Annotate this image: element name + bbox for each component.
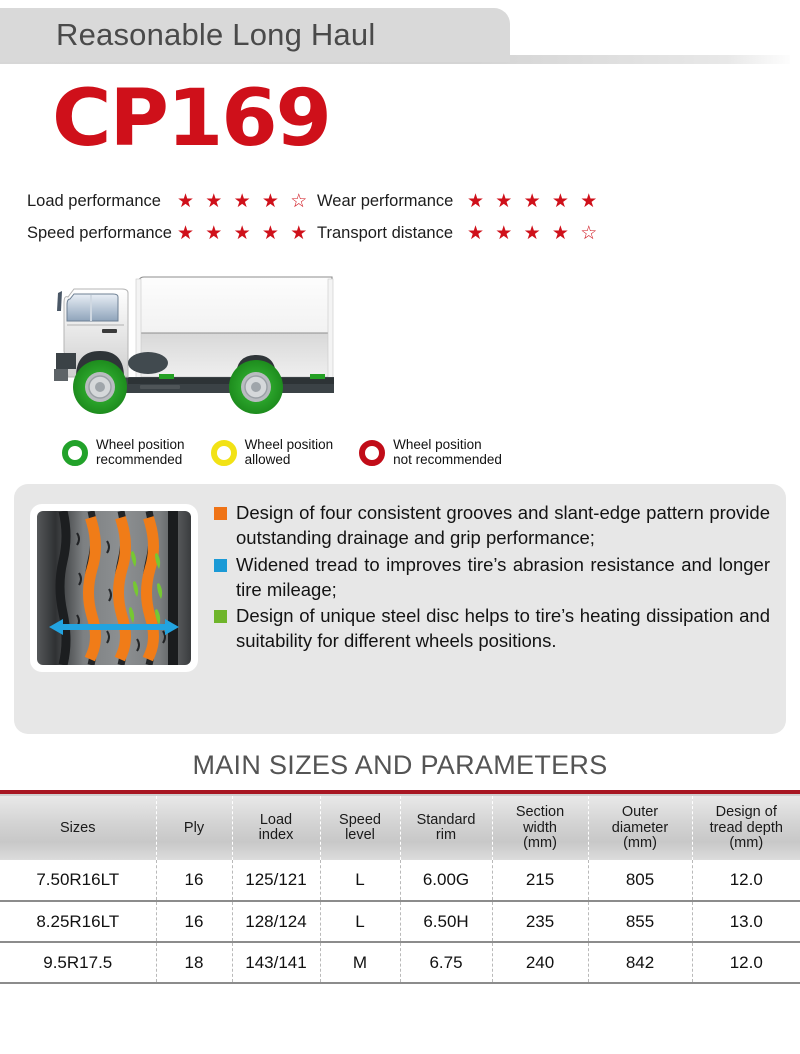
- header-banner: Reasonable Long Haul: [0, 0, 800, 72]
- feature-item-2: Widened tread to improves tire’s abrasio…: [214, 552, 770, 602]
- cell-load-index: 143/141: [232, 942, 320, 983]
- truck-illustration-zone: [0, 259, 800, 434]
- cell-standard-rim: 6.50H: [400, 901, 492, 942]
- specs-table: Sizes Ply Loadindex Speedlevel Standardr…: [0, 796, 800, 984]
- cell-size: 8.25R16LT: [0, 901, 156, 942]
- feature-list: Design of four consistent grooves and sl…: [214, 498, 770, 718]
- legend-label-not-recommended: Wheel position not recommended: [393, 438, 502, 467]
- legend-line-2: not recommended: [393, 453, 502, 468]
- column-header-load-index: Loadindex: [232, 796, 320, 860]
- cell-standard-rim: 6.00G: [400, 860, 492, 901]
- feature-text-3: Design of unique steel disc helps to tir…: [236, 603, 770, 653]
- cell-load-index: 128/124: [232, 901, 320, 942]
- bullet-square-green-icon: [214, 610, 227, 623]
- table-title: MAIN SIZES AND PARAMETERS: [0, 750, 800, 781]
- rating-stars-wear: ★ ★ ★ ★ ★: [467, 190, 607, 213]
- cell-outer-diameter: 842: [588, 942, 692, 983]
- tread-image-frame: [30, 504, 198, 672]
- feature-text-1: Design of four consistent grooves and sl…: [236, 500, 770, 550]
- cell-section-width: 235: [492, 901, 588, 942]
- legend-item-allowed: Wheel position allowed: [211, 438, 334, 467]
- rating-label-wear: Wear performance: [317, 192, 467, 211]
- rating-label-load: Load performance: [27, 192, 177, 211]
- rating-stars-speed: ★ ★ ★ ★ ★: [177, 222, 317, 245]
- legend-label-recommended: Wheel position recommended: [96, 438, 185, 467]
- column-header-tread-depth: Design oftread depth(mm): [692, 796, 800, 860]
- banner-plate: Reasonable Long Haul: [0, 8, 510, 62]
- cell-speed-level: L: [320, 860, 400, 901]
- legend-item-recommended: Wheel position recommended: [62, 438, 185, 467]
- column-header-ply: Ply: [156, 796, 232, 860]
- cell-ply: 16: [156, 860, 232, 901]
- legend-line-2: allowed: [245, 453, 334, 468]
- cell-tread-depth: 12.0: [692, 942, 800, 983]
- wheel-rear: [229, 360, 283, 414]
- rating-stars-transport: ★ ★ ★ ★ ☆: [467, 222, 607, 245]
- legend-line-1: Wheel position: [96, 438, 185, 453]
- rating-label-transport: Transport distance: [317, 224, 467, 243]
- table-row: 9.5R17.5 18 143/141 M 6.75 240 842 12.0: [0, 942, 800, 983]
- feature-panel: Design of four consistent grooves and sl…: [14, 484, 786, 734]
- performance-ratings: Load performance ★ ★ ★ ★ ☆ Wear performa…: [27, 190, 800, 245]
- column-header-standard-rim: Standardrim: [400, 796, 492, 860]
- cell-size: 9.5R17.5: [0, 942, 156, 983]
- legend-label-allowed: Wheel position allowed: [245, 438, 334, 467]
- cell-section-width: 240: [492, 942, 588, 983]
- legend-line-1: Wheel position: [393, 438, 502, 453]
- wheel-front: [73, 360, 127, 414]
- column-header-section-width: Sectionwidth(mm): [492, 796, 588, 860]
- tread-image: [37, 511, 191, 665]
- table-row: 7.50R16LT 16 125/121 L 6.00G 215 805 12.…: [0, 860, 800, 901]
- cell-ply: 18: [156, 942, 232, 983]
- bullet-square-orange-icon: [214, 507, 227, 520]
- product-code: CP169: [52, 82, 800, 156]
- table-row: 8.25R16LT 16 128/124 L 6.50H 235 855 13.…: [0, 901, 800, 942]
- wheel-position-legend: Wheel position recommended Wheel positio…: [62, 438, 800, 467]
- cell-tread-depth: 12.0: [692, 860, 800, 901]
- cell-outer-diameter: 805: [588, 860, 692, 901]
- cell-section-width: 215: [492, 860, 588, 901]
- ring-yellow-icon: [211, 440, 237, 466]
- truck-illustration: [40, 259, 360, 429]
- bullet-square-blue-icon: [214, 559, 227, 572]
- cell-standard-rim: 6.75: [400, 942, 492, 983]
- cell-size: 7.50R16LT: [0, 860, 156, 901]
- feature-item-3: Design of unique steel disc helps to tir…: [214, 603, 770, 653]
- legend-line-2: recommended: [96, 453, 185, 468]
- column-header-speed-level: Speedlevel: [320, 796, 400, 860]
- cell-outer-diameter: 855: [588, 901, 692, 942]
- legend-item-not-recommended: Wheel position not recommended: [359, 438, 502, 467]
- feature-text-2: Widened tread to improves tire’s abrasio…: [236, 552, 770, 602]
- tagline: Reasonable Long Haul: [0, 17, 375, 53]
- legend-line-1: Wheel position: [245, 438, 334, 453]
- feature-item-1: Design of four consistent grooves and sl…: [214, 500, 770, 550]
- table-header-row: Sizes Ply Loadindex Speedlevel Standardr…: [0, 796, 800, 860]
- column-header-outer-diameter: Outerdiameter(mm): [588, 796, 692, 860]
- cell-load-index: 125/121: [232, 860, 320, 901]
- cell-tread-depth: 13.0: [692, 901, 800, 942]
- cell-speed-level: M: [320, 942, 400, 983]
- ring-red-icon: [359, 440, 385, 466]
- column-header-sizes: Sizes: [0, 796, 156, 860]
- ring-green-icon: [62, 440, 88, 466]
- rating-stars-load: ★ ★ ★ ★ ☆: [177, 190, 317, 213]
- cell-speed-level: L: [320, 901, 400, 942]
- cell-ply: 16: [156, 901, 232, 942]
- rating-label-speed: Speed performance: [27, 224, 177, 243]
